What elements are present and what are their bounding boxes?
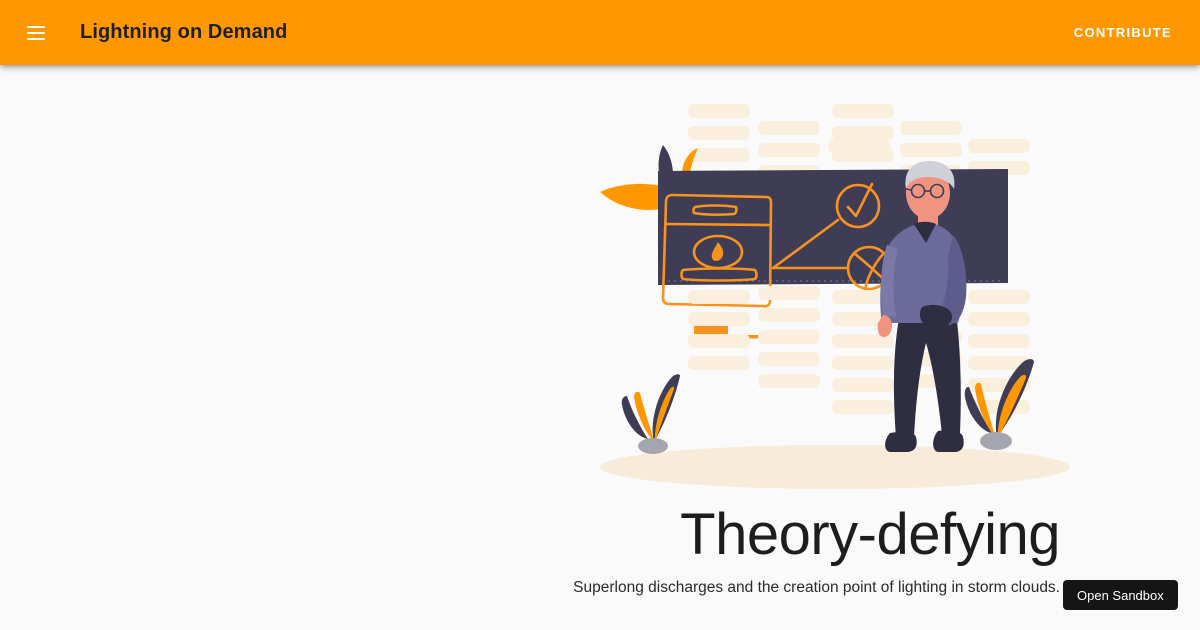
app-header: Lightning on Demand CONTRIBUTE (0, 0, 1200, 65)
menu-bar-1 (27, 26, 45, 28)
menu-bar-3 (27, 38, 45, 40)
contribute-button[interactable]: CONTRIBUTE (1062, 17, 1184, 48)
hero-stage: Theory-defying Superlong discharges and … (0, 65, 1200, 630)
presenter-shoe-right (933, 430, 964, 452)
open-sandbox-button[interactable]: Open Sandbox (1063, 580, 1178, 610)
plant-left (622, 374, 680, 454)
ground-ellipse (600, 445, 1070, 489)
menu-bar-2 (27, 32, 45, 34)
hero-caption: Theory-defying Superlong discharges and … (0, 505, 1060, 598)
page-title: Theory-defying (0, 505, 1060, 566)
lecturer-at-blackboard-illustration (570, 85, 1090, 505)
app-title: Lightning on Demand (80, 21, 287, 44)
presenter-shoe-left (885, 432, 917, 452)
page-subtitle: Superlong discharges and the creation po… (0, 578, 1060, 598)
hamburger-menu-icon[interactable] (12, 9, 60, 57)
